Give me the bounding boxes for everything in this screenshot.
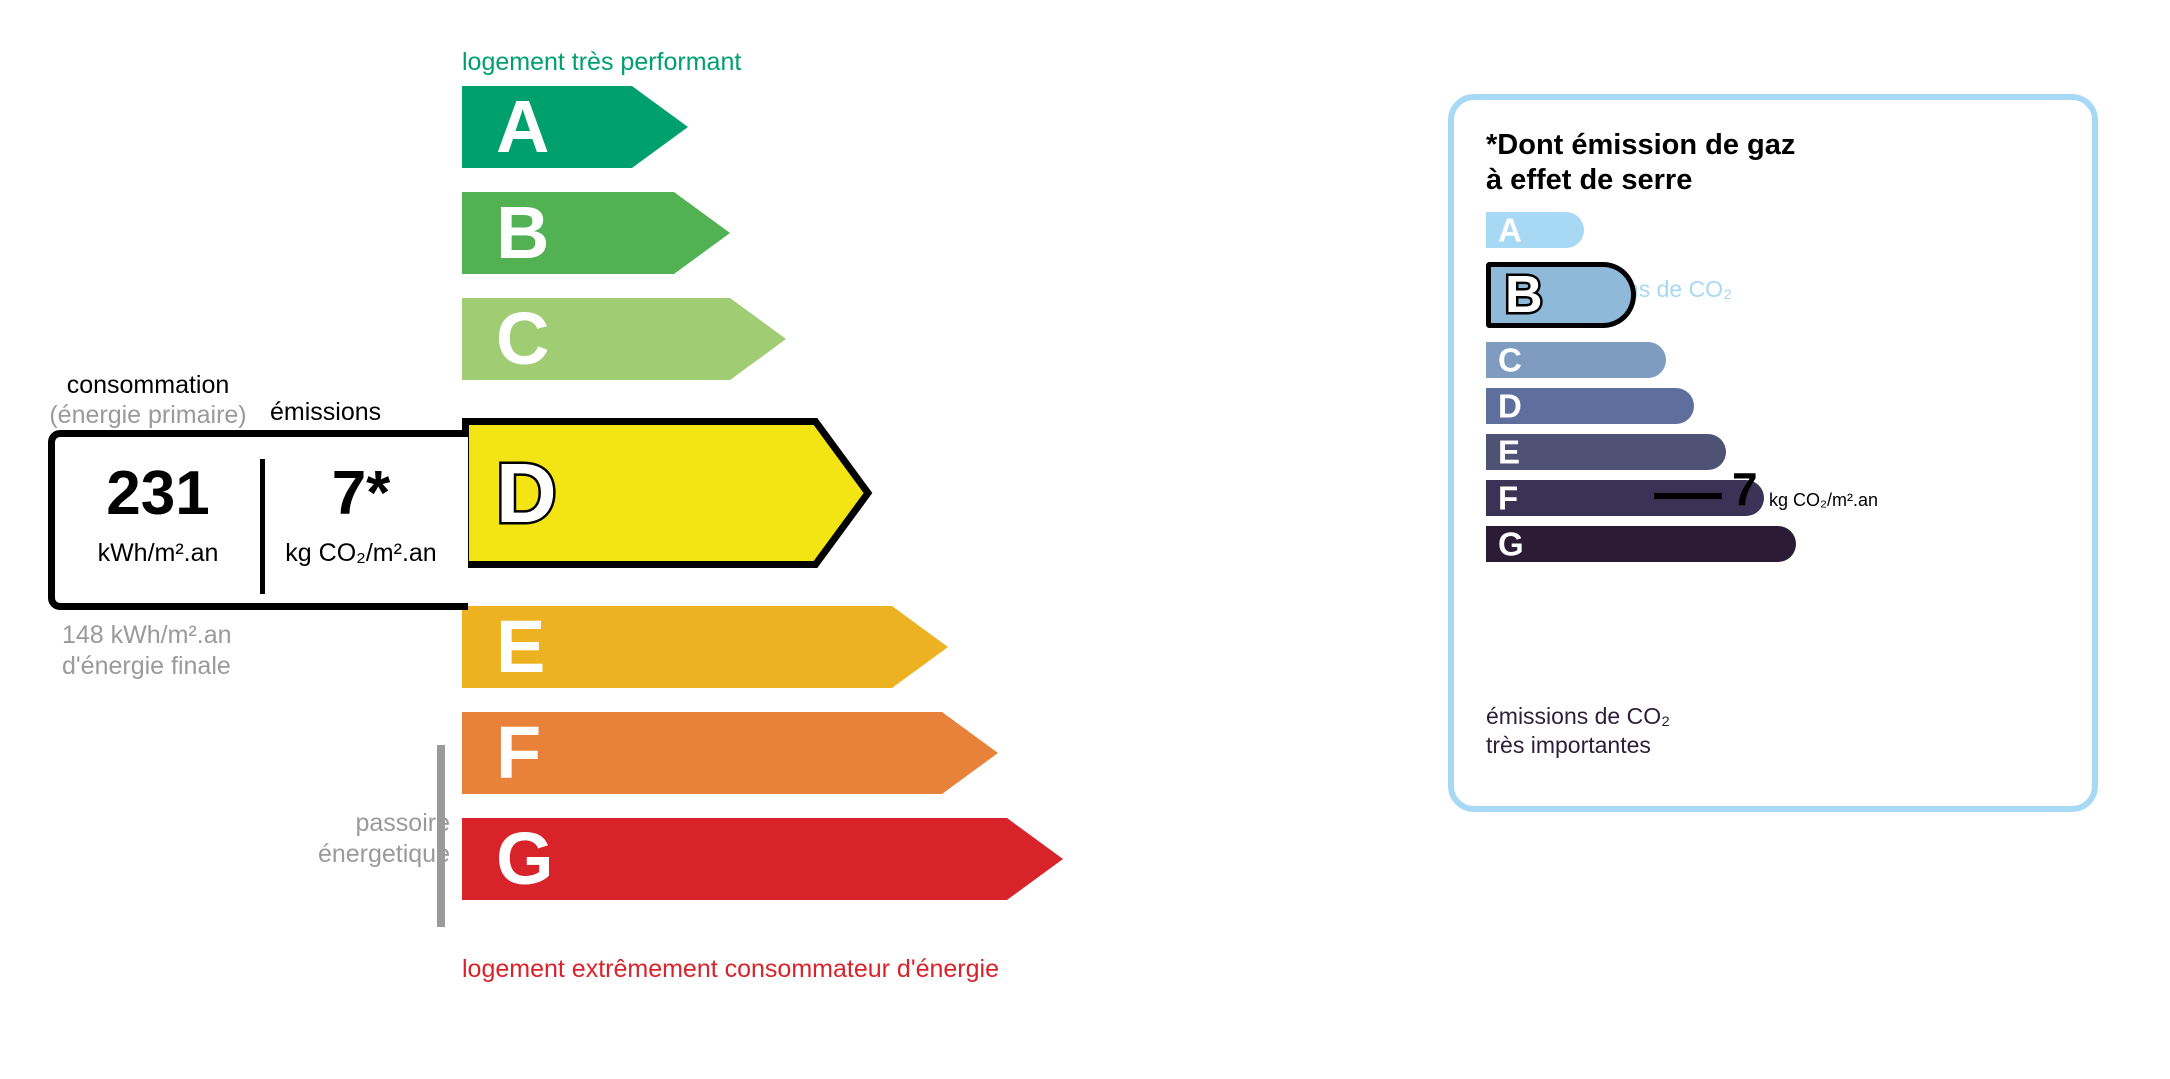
energy-class-arrow-f: F (462, 712, 1008, 794)
co2-class-letter-e: E (1498, 436, 1520, 469)
co2-class-letter-b: B (1505, 269, 1543, 321)
dpe-energy-chart: logement très performant ABCDEFG consomm… (0, 0, 1400, 1079)
co2-bar-fill-a: A (1486, 212, 1584, 248)
passoire-indicator-bar (437, 745, 445, 927)
energy-class-letter-d: D (496, 451, 557, 535)
energy-bottom-caption: logement extrêmement consommateur d'éner… (462, 955, 999, 984)
co2-class-letter-a: A (1498, 214, 1522, 247)
consumption-label: consommation (énergie primaire) (48, 370, 248, 430)
co2-bar-fill-f: F (1486, 480, 1764, 516)
final-energy-label: 148 kWh/m².an d'énergie finale (62, 620, 232, 683)
co2-class-bar-b: B (1486, 262, 1636, 328)
co2-value-unit: kg CO₂/m².an (1769, 490, 1878, 511)
energy-class-letter-c: C (496, 302, 549, 376)
energy-class-arrow-c: C (462, 298, 796, 380)
co2-bar-fill-c: C (1486, 342, 1666, 378)
co2-class-letter-g: G (1498, 528, 1524, 561)
co2-class-letter-f: F (1498, 482, 1518, 515)
co2-connector-line (1654, 493, 1722, 499)
co2-class-bar-d: D (1486, 388, 1694, 424)
energy-class-arrow-e: E (462, 606, 958, 688)
consumption-value-cell: 231 kWh/m².an (55, 437, 261, 603)
co2-class-bar-f: F (1486, 480, 1764, 516)
co2-panel-title: *Dont émission de gaz à effet de serre (1486, 128, 1795, 199)
co2-bar-fill-g: G (1486, 526, 1796, 562)
co2-class-bar-c: C (1486, 342, 1666, 378)
co2-value: 7 (1732, 466, 1758, 512)
passoire-label: passoire énergetique (280, 808, 450, 871)
co2-title-line1: *Dont émission de gaz (1486, 128, 1795, 163)
co2-title-line2: à effet de serre (1486, 163, 1795, 198)
energy-class-arrow-b: B (462, 192, 740, 274)
energy-class-letter-f: F (496, 716, 541, 790)
emission-value-cell: 7* kg CO₂/m².an (261, 437, 461, 603)
value-box: 231 kWh/m².an 7* kg CO₂/m².an (48, 430, 468, 610)
consumption-value: 231 (55, 463, 261, 525)
co2-class-letter-c: C (1498, 344, 1522, 377)
co2-bottom-line1: émissions de CO₂ (1486, 702, 1670, 731)
energy-class-letter-b: B (496, 196, 549, 270)
energy-class-letter-g: G (496, 822, 554, 896)
co2-bar-fill-b: B (1486, 262, 1636, 328)
energy-top-caption: logement très performant (462, 48, 741, 77)
final-energy-line1: 148 kWh/m².an (62, 620, 232, 651)
co2-class-bar-g: G (1486, 526, 1796, 562)
passoire-line1: passoire (280, 808, 450, 839)
co2-panel: *Dont émission de gaz à effet de serre p… (1448, 94, 2098, 812)
emissions-label: émissions (270, 398, 381, 427)
co2-class-letter-d: D (1498, 390, 1522, 423)
energy-class-letter-e: E (496, 610, 545, 684)
energy-class-arrow-d: D (462, 418, 878, 568)
consumption-label-title: consommation (67, 371, 230, 399)
co2-bar-fill-d: D (1486, 388, 1694, 424)
energy-class-arrow-a: A (462, 86, 698, 168)
co2-bar-fill-e: E (1486, 434, 1726, 470)
energy-class-arrow-g: G (462, 818, 1073, 900)
co2-class-bar-a: A (1486, 212, 1584, 248)
energy-class-letter-a: A (496, 90, 549, 164)
arrow-shape-f (462, 712, 1006, 794)
consumption-label-sub: (énergie primaire) (48, 400, 248, 430)
final-energy-line2: d'énergie finale (62, 651, 232, 682)
emission-value: 7* (261, 463, 461, 525)
passoire-line2: énergetique (280, 839, 450, 870)
consumption-value-unit: kWh/m².an (55, 539, 261, 568)
co2-bottom-caption: émissions de CO₂ très importantes (1486, 702, 1670, 760)
co2-class-bar-e: E (1486, 434, 1726, 470)
co2-bottom-line2: très importantes (1486, 731, 1670, 760)
emission-value-unit: kg CO₂/m².an (261, 539, 461, 568)
